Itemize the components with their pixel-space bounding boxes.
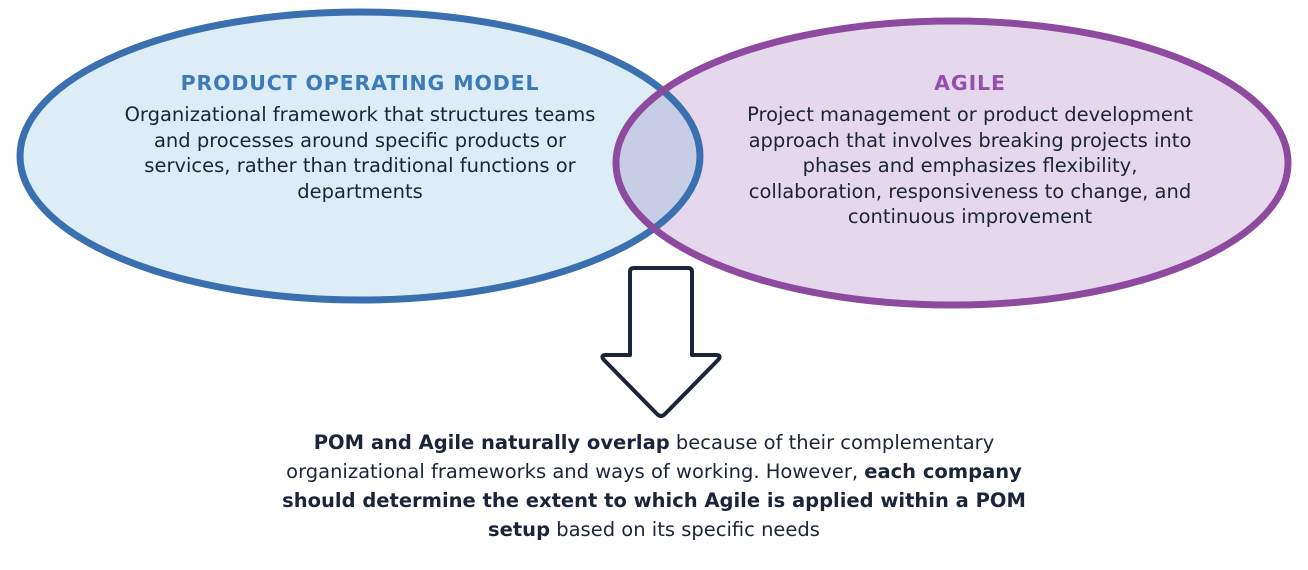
down-arrow [596, 262, 726, 422]
caption-segment-0: POM and Agile naturally overlap [314, 431, 670, 454]
pom-description: Organizational framework that structures… [110, 102, 610, 204]
diagram-canvas: PRODUCT OPERATING MODEL Organizational f… [0, 0, 1308, 570]
caption-text: POM and Agile naturally overlap because … [254, 428, 1054, 544]
agile-text-block: AGILE Project management or product deve… [735, 70, 1205, 230]
pom-title: PRODUCT OPERATING MODEL [110, 70, 610, 96]
pom-text-block: PRODUCT OPERATING MODEL Organizational f… [110, 70, 610, 204]
down-arrow-icon [596, 262, 726, 422]
agile-description: Project management or product developmen… [735, 102, 1205, 230]
agile-title: AGILE [735, 70, 1205, 96]
caption-segment-3: based on its specific needs [550, 518, 820, 541]
